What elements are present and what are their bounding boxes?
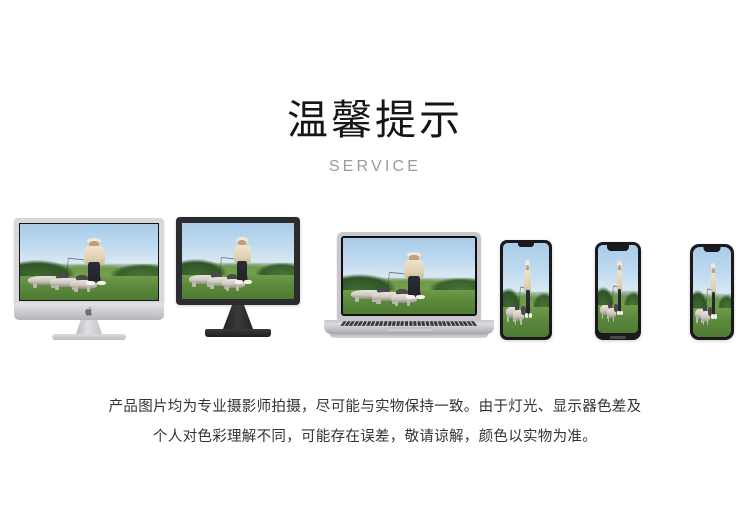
device-phone-1: [500, 240, 552, 340]
photo-person: [524, 260, 532, 318]
disclaimer-line-2: 个人对色彩理解不同，可能存在误差，敬请谅解，颜色以实物为准。: [0, 422, 750, 452]
phone-home-indicator: [610, 336, 626, 339]
imac-stand-base: [52, 334, 126, 340]
page-title: 温馨提示: [0, 0, 750, 144]
device-phone-3: [690, 244, 734, 340]
phone-notch: [607, 245, 629, 251]
photo-person: [83, 238, 106, 285]
imac-chin: [14, 303, 164, 320]
phone-screen: [693, 247, 731, 337]
laptop-lid: [337, 232, 481, 320]
phone-screen: [503, 243, 549, 337]
imac-stand-neck: [76, 320, 102, 334]
photo-person: [710, 263, 716, 319]
product-photo: [182, 223, 294, 299]
photo-person: [404, 252, 426, 299]
laptop-trackpad: [386, 327, 432, 331]
phone-notch: [518, 243, 534, 247]
product-photo: [503, 243, 549, 337]
page-header: 温馨提示 SERVICE: [0, 0, 750, 177]
photo-dog: [513, 306, 524, 325]
phone-screen: [598, 245, 638, 333]
device-showcase: [0, 210, 750, 340]
laptop-base: [324, 320, 494, 334]
disclaimer-note: 产品图片均为专业摄影师拍摄，尽可能与实物保持一致。由于灯光、显示器色差及 个人对…: [0, 392, 750, 452]
page-subtitle: SERVICE: [0, 144, 750, 177]
device-imac: [14, 218, 164, 340]
monitor-stand-neck: [223, 305, 253, 329]
photo-dog: [701, 307, 710, 325]
product-photo: [343, 238, 475, 314]
product-photo: [598, 245, 638, 333]
product-photo: [693, 247, 731, 337]
laptop-front-edge: [330, 334, 488, 338]
monitor-screen: [176, 217, 300, 305]
product-photo: [19, 223, 159, 301]
laptop-keyboard: [340, 321, 477, 326]
imac-screen: [14, 218, 164, 303]
device-monitor: [176, 217, 300, 340]
device-laptop: [324, 232, 494, 340]
photo-person: [616, 261, 623, 316]
photo-dog: [607, 304, 617, 322]
monitor-stand-base: [205, 329, 271, 337]
phone-notch: [704, 247, 721, 252]
device-phone-2: [595, 242, 641, 340]
disclaimer-line-1: 产品图片均为专业摄影师拍摄，尽可能与实物保持一致。由于灯光、显示器色差及: [0, 392, 750, 422]
apple-logo-icon: [85, 306, 94, 317]
photo-person: [234, 237, 253, 284]
